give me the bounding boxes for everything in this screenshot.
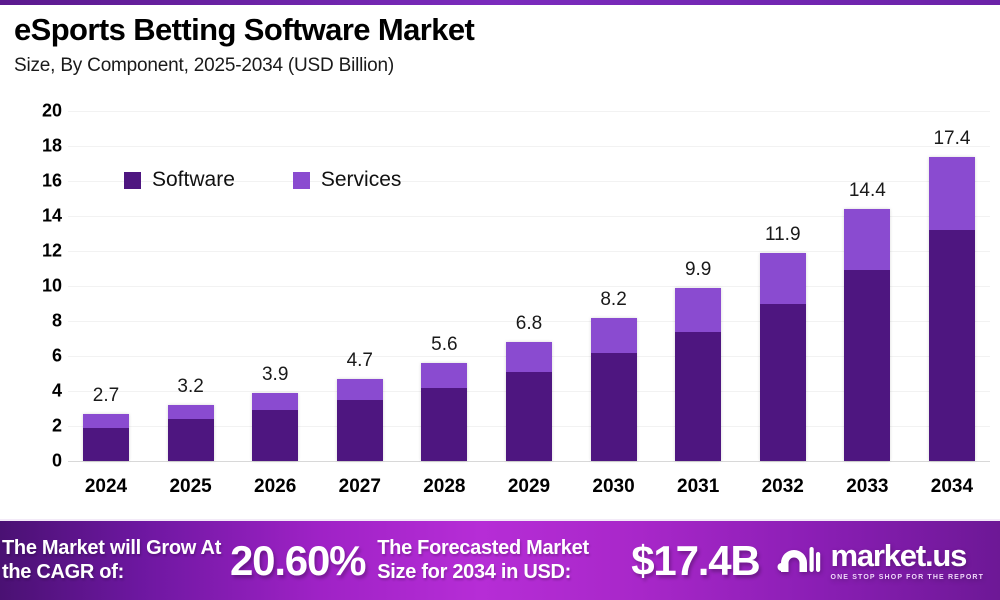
bar-stack-2027[interactable]	[337, 379, 383, 461]
bar-group-2034[interactable]: 17.4	[924, 111, 980, 461]
brand-logo[interactable]: market.us ONE STOP SHOP FOR THE REPORT	[777, 540, 984, 581]
forecast-size-value: $17.4B	[631, 537, 759, 585]
legend-swatch-services	[293, 172, 310, 189]
bar-stack-2025[interactable]	[168, 405, 214, 461]
y-axis-tick-14: 14	[18, 206, 62, 227]
bar-total-label-2033: 14.4	[849, 180, 886, 202]
x-axis-line	[68, 461, 990, 462]
bar-total-label-2031: 9.9	[685, 259, 711, 281]
y-axis-tick-6: 6	[18, 346, 62, 367]
bar-group-2026[interactable]: 3.9	[247, 111, 303, 461]
bar-series-container: 2.73.23.94.75.66.88.29.911.914.417.4	[68, 111, 990, 461]
bar-group-2031[interactable]: 9.9	[670, 111, 726, 461]
y-axis-tick-0: 0	[18, 451, 62, 472]
bar-group-2028[interactable]: 5.6	[416, 111, 472, 461]
y-axis-ticks: 20181614121086420	[18, 100, 62, 475]
bar-total-label-2026: 3.9	[262, 364, 288, 386]
bar-group-2027[interactable]: 4.7	[332, 111, 388, 461]
bar-segment-software-2030[interactable]	[591, 353, 637, 462]
bar-segment-software-2025[interactable]	[168, 419, 214, 461]
bar-total-label-2034: 17.4	[933, 128, 970, 150]
x-axis-label-2026: 2026	[247, 476, 303, 498]
forecast-size-label: The Forecasted Market Size for 2034 in U…	[377, 537, 627, 584]
bar-segment-software-2024[interactable]	[83, 428, 129, 461]
y-axis-tick-16: 16	[18, 171, 62, 192]
y-axis-tick-12: 12	[18, 241, 62, 262]
x-axis-label-2031: 2031	[670, 476, 726, 498]
x-axis-label-2024: 2024	[78, 476, 134, 498]
bar-total-label-2025: 3.2	[177, 376, 203, 398]
y-axis-tick-2: 2	[18, 416, 62, 437]
brand-tagline: ONE STOP SHOP FOR THE REPORT	[830, 574, 984, 581]
y-axis-tick-4: 4	[18, 381, 62, 402]
bar-stack-2034[interactable]	[929, 157, 975, 462]
bar-group-2032[interactable]: 11.9	[755, 111, 811, 461]
legend-item-software[interactable]: Software	[124, 168, 235, 192]
bar-segment-services-2027[interactable]	[337, 379, 383, 400]
bar-total-label-2029: 6.8	[516, 313, 542, 335]
bar-segment-software-2027[interactable]	[337, 400, 383, 461]
bar-segment-software-2033[interactable]	[844, 270, 890, 461]
chart-legend: Software Services	[124, 168, 401, 192]
bar-group-2030[interactable]: 8.2	[586, 111, 642, 461]
bar-segment-services-2025[interactable]	[168, 405, 214, 419]
chart-plot-area: 20181614121086420 2.73.23.94.75.66.88.29…	[0, 0, 1000, 520]
y-axis-tick-10: 10	[18, 276, 62, 297]
x-axis-label-2033: 2033	[839, 476, 895, 498]
bar-stack-2030[interactable]	[591, 318, 637, 462]
bar-stack-2032[interactable]	[760, 253, 806, 461]
x-axis-label-2027: 2027	[332, 476, 388, 498]
brand-text: market.us ONE STOP SHOP FOR THE REPORT	[830, 540, 984, 581]
bar-segment-services-2034[interactable]	[929, 157, 975, 231]
x-axis-label-2029: 2029	[501, 476, 557, 498]
bar-total-label-2032: 11.9	[765, 224, 801, 246]
bar-segment-services-2024[interactable]	[83, 414, 129, 428]
bar-segment-services-2031[interactable]	[675, 288, 721, 332]
y-axis-tick-18: 18	[18, 136, 62, 157]
bar-total-label-2028: 5.6	[431, 334, 457, 356]
bar-stack-2033[interactable]	[844, 209, 890, 461]
x-axis-label-2030: 2030	[586, 476, 642, 498]
x-axis-label-2025: 2025	[163, 476, 219, 498]
bar-total-label-2030: 8.2	[600, 289, 626, 311]
bar-segment-services-2032[interactable]	[760, 253, 806, 304]
bar-stack-2029[interactable]	[506, 342, 552, 461]
x-axis-label-2028: 2028	[416, 476, 472, 498]
y-axis-tick-8: 8	[18, 311, 62, 332]
bar-stack-2024[interactable]	[83, 414, 129, 461]
legend-label-software: Software	[152, 168, 235, 192]
bar-group-2024[interactable]: 2.7	[78, 111, 134, 461]
bar-group-2025[interactable]: 3.2	[163, 111, 219, 461]
bar-stack-2031[interactable]	[675, 288, 721, 461]
legend-swatch-software	[124, 172, 141, 189]
bar-segment-services-2028[interactable]	[421, 363, 467, 388]
market-us-logo-icon	[777, 543, 821, 578]
y-axis-tick-20: 20	[18, 101, 62, 122]
legend-item-services[interactable]: Services	[293, 168, 402, 192]
x-axis-labels: 2024202520262027202820292030203120322033…	[68, 476, 990, 498]
bar-segment-software-2031[interactable]	[675, 332, 721, 462]
legend-label-services: Services	[321, 168, 402, 192]
bar-segment-software-2032[interactable]	[760, 304, 806, 462]
brand-name: market.us	[830, 540, 984, 571]
bar-stack-2028[interactable]	[421, 363, 467, 461]
bar-segment-services-2026[interactable]	[252, 393, 298, 411]
bar-group-2033[interactable]: 14.4	[839, 111, 895, 461]
bar-segment-software-2026[interactable]	[252, 410, 298, 461]
bar-group-2029[interactable]: 6.8	[501, 111, 557, 461]
x-axis-label-2034: 2034	[924, 476, 980, 498]
bar-segment-services-2033[interactable]	[844, 209, 890, 270]
cagr-value: 20.60%	[230, 537, 365, 585]
bar-segment-services-2030[interactable]	[591, 318, 637, 353]
bar-total-label-2027: 4.7	[347, 350, 373, 372]
bar-total-label-2024: 2.7	[93, 385, 119, 407]
footer-banner: The Market will Grow At the CAGR of: 20.…	[0, 519, 1000, 600]
x-axis-label-2032: 2032	[755, 476, 811, 498]
bar-segment-software-2034[interactable]	[929, 230, 975, 461]
bar-segment-services-2029[interactable]	[506, 342, 552, 372]
bar-segment-software-2029[interactable]	[506, 372, 552, 461]
cagr-label: The Market will Grow At the CAGR of:	[2, 537, 224, 584]
bar-segment-software-2028[interactable]	[421, 388, 467, 462]
bar-stack-2026[interactable]	[252, 393, 298, 461]
